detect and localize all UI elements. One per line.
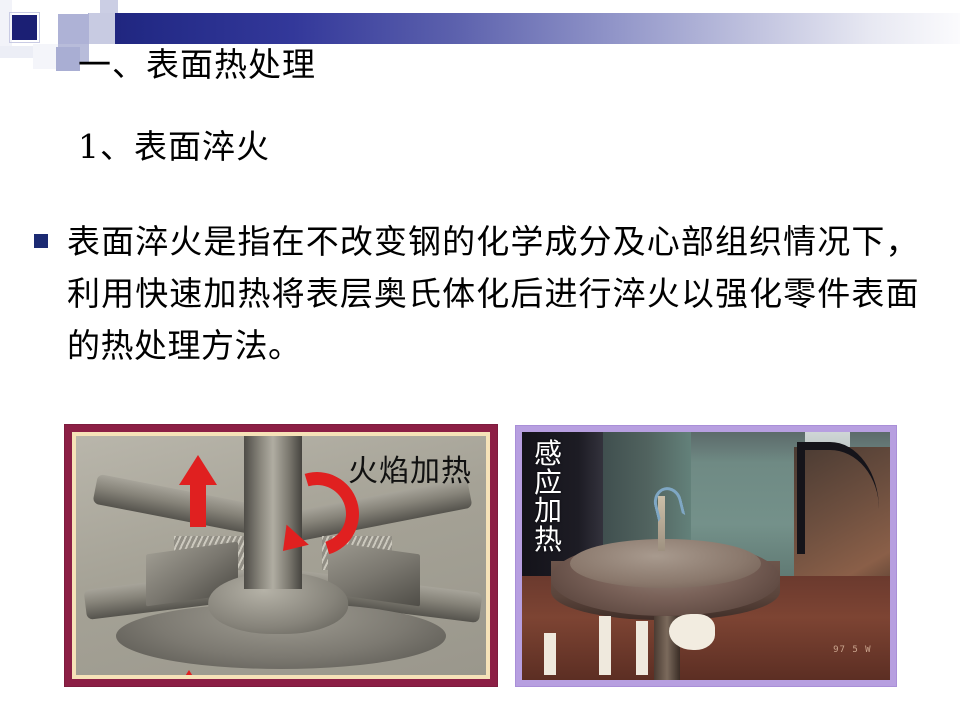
figure-flame-heating: 火焰加热	[64, 424, 498, 687]
header-decor-square-medium	[58, 13, 89, 44]
page-title: 一、表面热处理	[78, 44, 316, 85]
photo-foreground-object	[669, 614, 715, 650]
photo-watermark: 97 5 W	[833, 645, 872, 655]
header-decor-square-white	[58, 0, 88, 14]
header-decor-square-light	[89, 13, 115, 44]
square-bullet-icon	[34, 234, 48, 248]
header-decor-square-lavender	[56, 47, 80, 71]
figure-flame-heating-image: 火焰加热	[72, 432, 490, 679]
figure-induction-heating: 97 5 W 感应加热	[515, 425, 897, 687]
header-decor-edge-wash-lower	[0, 46, 33, 58]
header-decor-square-dark	[12, 15, 37, 40]
figure-induction-heating-label: 感应加热	[532, 440, 564, 554]
header-gradient-bar	[58, 13, 960, 44]
photo-support-leg	[544, 633, 556, 675]
page-subtitle: 1、表面淬火	[78, 126, 270, 167]
presentation-slide: 一、表面热处理 1、表面淬火 表面淬火是指在不改变钢的化学成分及心部组织情况下，…	[0, 0, 960, 720]
header-decor-square-stub	[100, 0, 118, 13]
bullet-paragraph-text: 表面淬火是指在不改变钢的化学成分及心部组织情况下，利用快速加热将表层奥氏体化后进…	[67, 216, 919, 372]
figure-flame-heating-label: 火焰加热	[348, 446, 472, 490]
header-decor-edge-wash	[0, 0, 12, 46]
photo-workpiece-top	[570, 539, 761, 589]
photo-support-leg	[599, 616, 611, 676]
figure-induction-heating-image: 97 5 W 感应加热	[522, 432, 890, 680]
header-decor-square-pale	[33, 44, 58, 69]
photo-support-leg	[636, 621, 648, 676]
bullet-paragraph: 表面淬火是指在不改变钢的化学成分及心部组织情况下，利用快速加热将表层奥氏体化后进…	[34, 216, 934, 372]
